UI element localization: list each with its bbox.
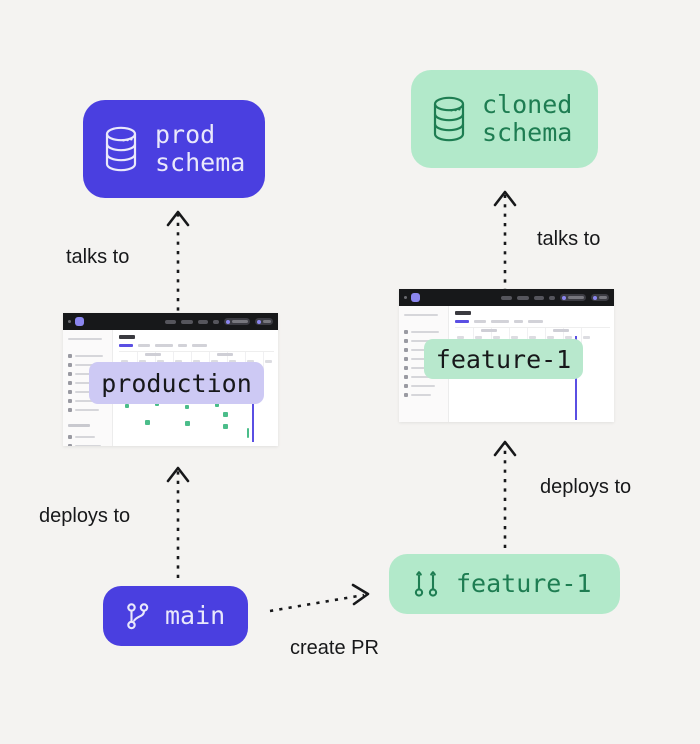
node-cloned-schema-label: cloned schema: [482, 91, 572, 147]
table-icon: [68, 363, 72, 367]
table-icon: [68, 381, 72, 385]
mockup-tab: [119, 344, 133, 347]
menu-dot-icon: [404, 296, 407, 299]
scatter-point: [247, 428, 249, 438]
edge-label-talks-to-left: talks to: [66, 246, 129, 269]
sidebar-item: [68, 443, 107, 446]
mockup-tabbar: [119, 344, 274, 347]
mockup-tab: [528, 320, 543, 323]
sidebar-item-label: [411, 394, 431, 396]
avatar-icon: [257, 320, 261, 324]
table-icon: [404, 330, 408, 334]
brand-logo-icon: [75, 317, 84, 326]
sidebar-item: [404, 383, 443, 389]
database-icon: [101, 123, 141, 175]
sidebar-item: [404, 392, 443, 398]
edge-label-talks-to-right: talks to: [537, 228, 600, 251]
table-icon: [404, 339, 408, 343]
env-dot-icon: [226, 320, 230, 324]
brand-logo-icon: [411, 293, 420, 302]
chart-cursor: [252, 398, 254, 442]
topbar-env-pill: [224, 318, 250, 325]
sidebar-gap: [68, 345, 107, 353]
node-cloned-schema[interactable]: cloned schema: [411, 70, 598, 168]
sidebar-search-row: [404, 312, 443, 318]
mockup-tab: [514, 320, 523, 323]
group-header: [481, 329, 497, 332]
arrow-talks-to-right: [487, 176, 523, 292]
axis-tick-label: [265, 360, 272, 363]
scatter-point: [185, 421, 190, 426]
sidebar-search-row: [68, 336, 107, 342]
group-header: [217, 353, 233, 356]
mockup-tab: [455, 320, 469, 323]
arrow-create-pr: [268, 578, 382, 614]
node-feature-branch-label: feature-1: [456, 570, 591, 598]
menu-dot-icon: [68, 320, 71, 323]
git-pull-request-icon: [412, 569, 442, 599]
diagram-canvas: talks to talks to deploys to deploys to …: [0, 0, 700, 744]
edge-label-create-pr: create PR: [290, 637, 379, 660]
sidebar-item-label: [411, 385, 435, 387]
arrow-deploys-to-left: [160, 452, 196, 578]
group-header: [145, 353, 161, 356]
group-header: [553, 329, 569, 332]
edge-label-deploys-to-right: deploys to: [540, 476, 631, 499]
table-icon: [68, 390, 72, 394]
sidebar-item: [68, 353, 107, 359]
sidebar-item: [404, 329, 443, 335]
account-label: [263, 320, 271, 323]
table-icon: [68, 399, 72, 403]
table-icon: [404, 366, 408, 370]
topbar-env-pill: [560, 294, 586, 301]
mockup-tab: [491, 320, 509, 323]
badge-feature: feature-1: [424, 339, 583, 379]
scatter-point: [185, 405, 189, 409]
table-icon: [68, 435, 72, 439]
topbar-nav-item: [517, 296, 529, 300]
sidebar-item: [68, 407, 107, 413]
topbar-nav-item: [549, 296, 555, 300]
axis-tick-label: [583, 336, 590, 339]
database-icon: [429, 93, 469, 145]
node-main-branch[interactable]: main: [103, 586, 248, 646]
table-icon: [68, 372, 72, 376]
git-branch-icon: [125, 601, 151, 631]
table-icon: [404, 384, 408, 388]
mockup-page-title: [455, 311, 471, 315]
sidebar-item-label: [75, 436, 95, 438]
scatter-point: [223, 424, 228, 429]
topbar-nav-item: [213, 320, 219, 324]
sidebar-item-label: [75, 355, 103, 357]
topbar-account-pill: [255, 318, 273, 325]
table-icon: [68, 444, 72, 446]
sidebar-item: [68, 434, 107, 440]
mockup-page-title: [119, 335, 135, 339]
arrow-talks-to-left: [160, 196, 196, 320]
mockup-tab: [178, 344, 187, 347]
table-icon: [404, 357, 408, 361]
mockup-tab: [155, 344, 173, 347]
table-icon: [68, 408, 72, 412]
edge-label-deploys-to-left: deploys to: [39, 505, 130, 528]
scatter-point: [125, 404, 129, 408]
topbar-nav-item: [501, 296, 512, 300]
table-icon: [404, 348, 408, 352]
table-icon: [404, 375, 408, 379]
mockup-tab: [474, 320, 486, 323]
mockup-tab: [192, 344, 207, 347]
scatter-point: [145, 420, 150, 425]
node-main-branch-label: main: [165, 602, 225, 630]
env-label: [568, 296, 584, 299]
sidebar-search-line: [404, 314, 438, 316]
topbar-nav-item: [534, 296, 544, 300]
table-icon: [404, 393, 408, 397]
sidebar-item-label: [411, 331, 439, 333]
arrow-deploys-to-right: [487, 426, 523, 548]
sidebar-section-header: [68, 424, 90, 427]
sidebar-gap: [68, 416, 107, 424]
sidebar-item-label: [75, 409, 99, 411]
scatter-point: [223, 412, 228, 417]
node-feature-branch[interactable]: feature-1: [389, 554, 620, 614]
avatar-icon: [593, 296, 597, 300]
account-label: [599, 296, 607, 299]
badge-production: production: [89, 362, 264, 404]
topbar-nav-item: [165, 320, 176, 324]
mockup-topbar: [399, 289, 614, 306]
env-dot-icon: [562, 296, 566, 300]
mockup-topbar: [63, 313, 278, 330]
table-icon: [68, 354, 72, 358]
sidebar-gap: [404, 321, 443, 329]
node-prod-schema[interactable]: prod schema: [83, 100, 265, 198]
mockup-scatter-chart: [119, 398, 274, 444]
topbar-nav-item: [198, 320, 208, 324]
sidebar-item-label: [75, 445, 101, 446]
topbar-nav-item: [181, 320, 193, 324]
node-prod-schema-label: prod schema: [155, 121, 245, 177]
mockup-tabbar: [455, 320, 610, 323]
sidebar-search-line: [68, 338, 102, 340]
topbar-account-pill: [591, 294, 609, 301]
env-label: [232, 320, 248, 323]
mockup-tab: [138, 344, 150, 347]
